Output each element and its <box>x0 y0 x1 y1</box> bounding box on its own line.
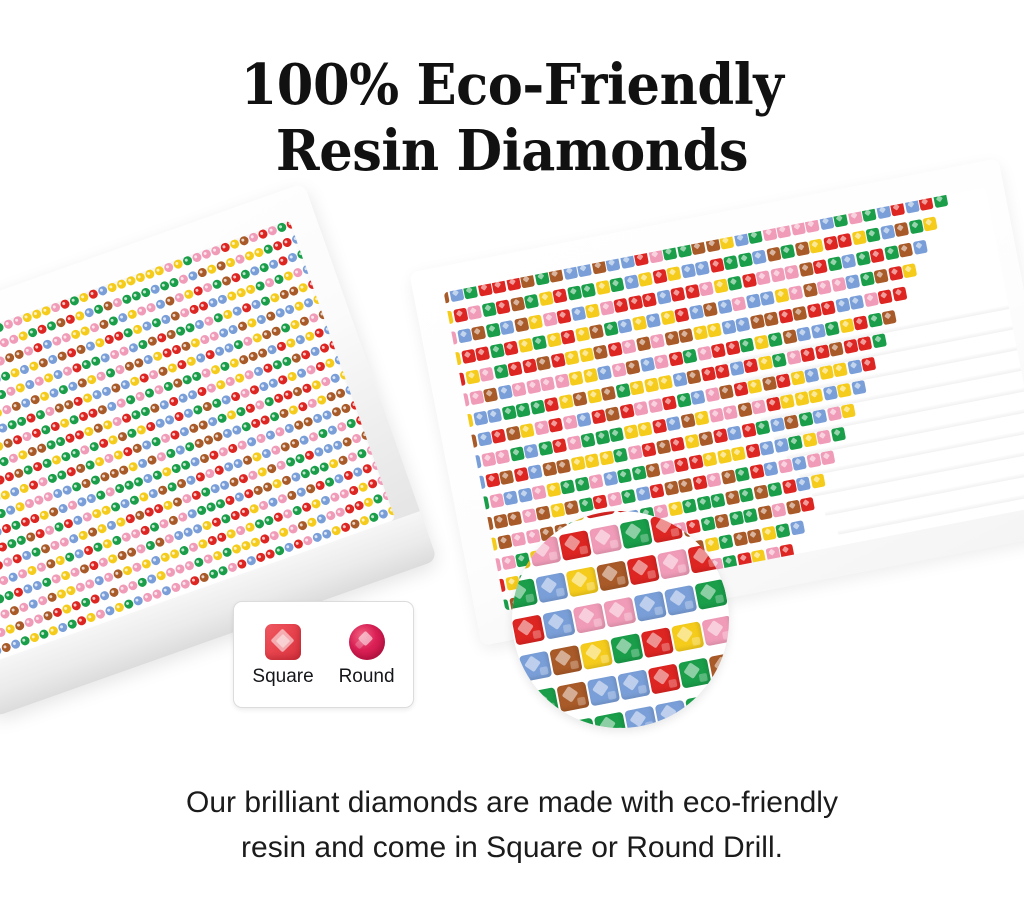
drill-shape-legend: Square Round <box>233 601 414 708</box>
headline-line-2: Resin Diamonds <box>31 118 994 184</box>
legend-label-round: Round <box>339 666 395 688</box>
headline-line-1: 100% Eco-Friendly <box>31 52 994 118</box>
empty-channel <box>889 574 1024 610</box>
headline: 100% Eco-Friendly Resin Diamonds <box>0 52 1024 184</box>
closeup-drill-rows <box>512 511 729 728</box>
legend-item-square: Square <box>252 624 313 688</box>
legend-item-round: Round <box>339 624 395 688</box>
square-gem-icon <box>265 624 301 660</box>
caption-line-2: resin and come in Square or Round Drill. <box>0 825 1024 870</box>
caption: Our brilliant diamonds are made with eco… <box>0 780 1024 870</box>
round-gem-icon <box>349 624 385 660</box>
square-drill-closeup-circle <box>512 511 729 728</box>
legend-label-square: Square <box>252 666 313 688</box>
caption-line-1: Our brilliant diamonds are made with eco… <box>0 780 1024 825</box>
product-image: 100% Eco-Friendly Resin Diamonds Square … <box>0 0 1024 923</box>
